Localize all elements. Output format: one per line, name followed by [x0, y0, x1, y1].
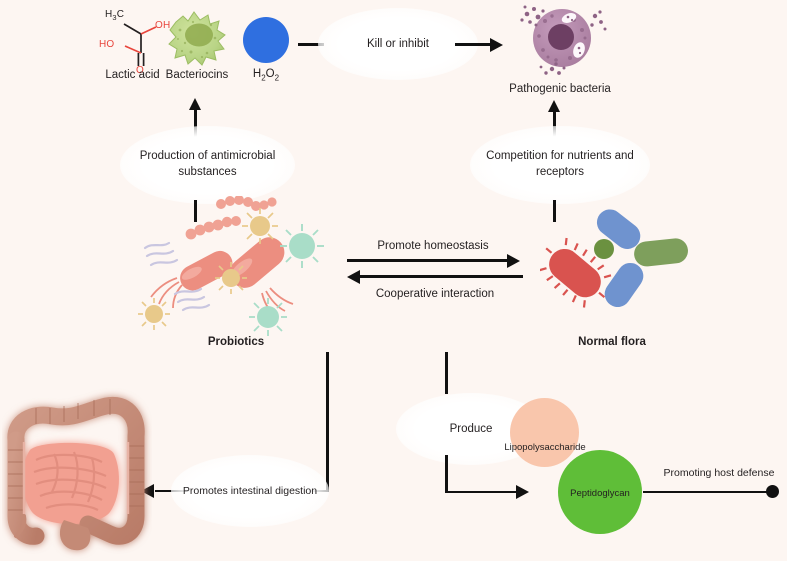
promote-homeostasis-label: Promote homeostasis [343, 239, 523, 254]
production-arrowhead [189, 98, 201, 110]
production-label-line2: substances [115, 164, 300, 180]
promoting-host-defense-endpoint [766, 485, 779, 498]
competition-label-line1: Competition for nutrients and [463, 148, 657, 164]
produce-arrowhead [516, 485, 529, 499]
lipopolysaccharide-circle [510, 398, 579, 467]
competition-arrowhead [548, 100, 560, 112]
probiotics-cluster [135, 196, 350, 336]
promoting-host-defense-line [643, 491, 772, 494]
digestion-elbow-vertical [326, 352, 329, 492]
competition-label-line2: receptors [463, 164, 657, 180]
normal-flora-svg [540, 200, 690, 330]
production-label-line1: Production of antimicrobial [115, 148, 300, 164]
hydrogen-peroxide-label: H2O2 [231, 67, 301, 85]
probiotics-label: Probiotics [166, 335, 306, 350]
peptidoglycan-label: Peptidoglycan [552, 486, 648, 501]
competition-arrow-line [553, 110, 556, 144]
competition-label: Competition for nutrients and receptors [463, 148, 657, 180]
digestion-label: Promotes intestinal digestion [168, 483, 332, 499]
kill-or-inhibit-label: Kill or inhibit [318, 36, 478, 52]
kill-or-inhibit-arrow-line [455, 43, 493, 46]
promoting-host-defense-label: Promoting host defense [651, 466, 787, 481]
lactic-acid-acidoh-label: HO [99, 39, 114, 50]
produce-elbow-horizontal [445, 491, 519, 494]
production-label: Production of antimicrobial substances [115, 148, 300, 180]
lipopolysaccharide-label: Lipopolysaccharide [495, 440, 595, 455]
produce-stem-upper [445, 352, 448, 394]
hydrogen-peroxide-circle [243, 17, 289, 63]
pathogenic-bacteria-cell [512, 0, 608, 78]
normal-flora-cluster [540, 200, 690, 330]
intestine-illustration [2, 388, 152, 560]
cooperative-interaction-arrowhead [347, 270, 360, 284]
production-arrow-line [194, 108, 197, 144]
normal-flora-label: Normal flora [547, 335, 677, 350]
promote-homeostasis-arrowhead [507, 254, 520, 268]
promote-homeostasis-line [347, 259, 510, 262]
cooperative-interaction-line [360, 275, 523, 278]
probiotics-svg [135, 196, 350, 336]
pathogenic-bacteria-svg [512, 0, 608, 78]
bacteriocins-svg [166, 8, 228, 68]
intestine-svg [2, 388, 152, 560]
diagram-canvas: H3C OH HO O Lactic acid [0, 0, 787, 561]
cooperative-interaction-label: Cooperative interaction [342, 287, 528, 302]
kill-or-inhibit-arrowhead [490, 38, 503, 52]
pathogenic-bacteria-label: Pathogenic bacteria [480, 82, 640, 97]
bacteriocins-cell [166, 8, 228, 68]
lactic-acid-methyl-label: H3C [105, 9, 124, 22]
produce-elbow-vertical [445, 455, 448, 493]
